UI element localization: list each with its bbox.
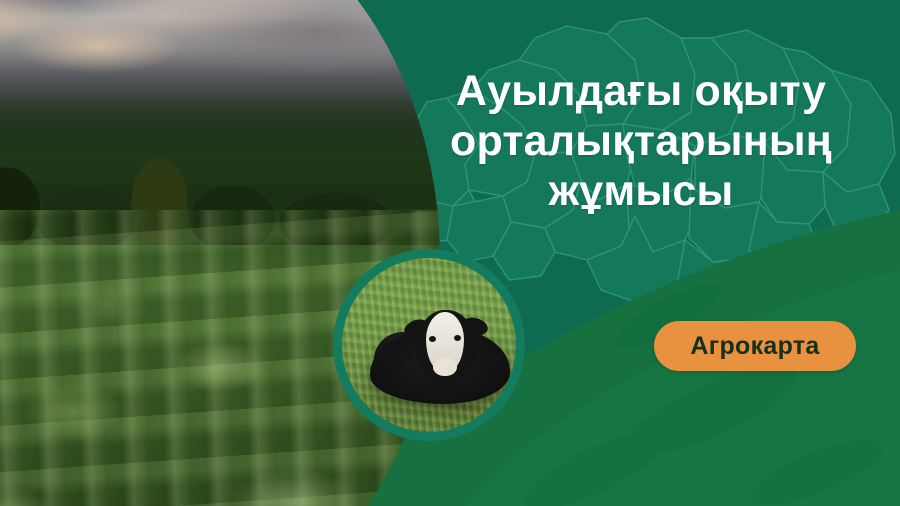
slide-canvas: Ауылдағы оқыту орталықтарының жұмысы Агр… [0, 0, 900, 506]
cow-eye-left [429, 336, 436, 342]
title-line-3: жұмысы [398, 166, 884, 216]
title-line-2: орталықтарының [398, 116, 884, 166]
page-title: Ауылдағы оқыту орталықтарының жұмысы [398, 66, 884, 216]
agrokarta-button[interactable]: Агрокарта [654, 321, 856, 371]
cow-muzzle [433, 358, 457, 376]
title-line-1: Ауылдағы оқыту [398, 66, 884, 116]
cow-photo [333, 249, 525, 441]
cow-scene [342, 258, 516, 432]
cow-eye-right [454, 335, 461, 341]
